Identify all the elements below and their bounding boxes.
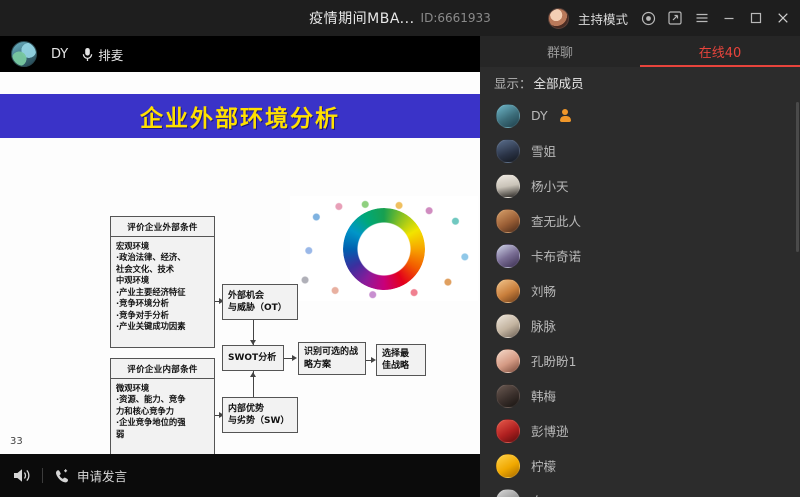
avatar xyxy=(496,349,520,373)
panel-tabs: 群聊 在线40 xyxy=(480,36,800,67)
minimize-icon[interactable] xyxy=(720,9,738,27)
external-conditions-body: 宏观环境 ·政治法律、经济、 社会文化、技术 中观环境 ·产业主要经济特征 ·竞… xyxy=(111,237,214,336)
list-item[interactable]: 柠檬 xyxy=(480,448,800,483)
avatar xyxy=(496,209,520,233)
request-to-speak-button[interactable]: 申请发言 xyxy=(54,466,127,485)
opportunities-threats-box: 外部机会 与威胁（OT） xyxy=(222,284,298,320)
external-line: ·竞争环境分析 xyxy=(116,298,210,309)
member-name: 杨小天 xyxy=(531,176,569,195)
internal-line: 弱 xyxy=(116,429,210,440)
internal-line: 力和核心竞争力 xyxy=(116,406,210,417)
title-bar-controls: 主持模式 xyxy=(548,0,792,36)
member-list[interactable]: DY雪姐杨小天查无此人卡布奇诺刘畅脉脉孔盼盼1韩梅彭博逊柠檬白 xyxy=(480,98,800,497)
arrow-sw-to-swot xyxy=(250,372,256,377)
list-item[interactable]: 查无此人 xyxy=(480,203,800,238)
member-name: 韩梅 xyxy=(531,386,556,405)
side-panel: 群聊 在线40 显示： 全部成员 DY雪姐杨小天查无此人卡布奇诺刘畅脉脉孔盼盼1… xyxy=(480,36,800,497)
internal-conditions-header: 评价企业内部条件 xyxy=(111,359,214,379)
internal-conditions-box: 评价企业内部条件 微观环境 ·资源、能力、竞争 力和核心竞争力 ·企业竞争地位的… xyxy=(110,358,215,454)
avatar xyxy=(496,174,520,198)
close-icon[interactable] xyxy=(774,9,792,27)
external-line: ·竞争对手分析 xyxy=(116,310,210,321)
list-item[interactable]: 卡布奇诺 xyxy=(480,238,800,273)
avatar xyxy=(496,454,520,478)
mic-queue-button[interactable]: 排麦 xyxy=(82,45,123,64)
member-name: 卡布奇诺 xyxy=(531,246,581,265)
meeting-window: 疫情期间MBA... ID:6661933 主持模式 xyxy=(0,0,800,497)
stage-area: DY 排麦 企业外部环境分析 xyxy=(0,36,480,497)
member-name: 白 xyxy=(531,491,544,497)
meeting-id: ID:6661933 xyxy=(421,11,491,25)
internal-line: ·资源、能力、竞争 xyxy=(116,394,210,405)
avatar xyxy=(496,489,520,497)
list-item[interactable]: DY xyxy=(480,98,800,133)
color-wheel-image xyxy=(290,196,478,301)
member-name: 刘畅 xyxy=(531,281,556,300)
external-line: ·产业关键成功因素 xyxy=(116,321,210,332)
member-name: 查无此人 xyxy=(531,211,581,230)
meeting-title: 疫情期间MBA... xyxy=(309,8,414,28)
bottom-toolbar: 申请发言 xyxy=(0,454,492,497)
request-to-speak-label: 申请发言 xyxy=(77,466,127,485)
member-filter-label: 显示： xyxy=(494,73,532,92)
slide-title: 企业外部环境分析 xyxy=(0,94,480,138)
avatar xyxy=(496,314,520,338)
list-item[interactable]: 孔盼盼1 xyxy=(480,343,800,378)
member-name: 彭博逊 xyxy=(531,421,569,440)
internal-line: 微观环境 xyxy=(116,383,210,394)
list-item[interactable]: 脉脉 xyxy=(480,308,800,343)
panel-scrollbar[interactable] xyxy=(796,102,799,252)
identify-options-box: 识别可选的战 略方案 xyxy=(298,342,366,375)
external-line: ·产业主要经济特征 xyxy=(116,287,210,298)
avatar xyxy=(496,384,520,408)
member-name: 雪姐 xyxy=(531,141,556,160)
slide-page-number: 33 xyxy=(10,436,23,447)
host-mode-label[interactable]: 主持模式 xyxy=(578,9,628,28)
menu-icon[interactable] xyxy=(693,9,711,27)
raise-hand-icon xyxy=(54,468,70,484)
list-item[interactable]: 白 xyxy=(480,483,800,497)
speaker-name: DY xyxy=(51,47,68,62)
list-item[interactable]: 刘畅 xyxy=(480,273,800,308)
title-bar: 疫情期间MBA... ID:6661933 主持模式 xyxy=(0,0,800,36)
external-line: 中观环境 xyxy=(116,275,210,286)
avatar xyxy=(496,419,520,443)
swot-analysis-box: SWOT分析 xyxy=(222,345,284,371)
record-icon[interactable] xyxy=(639,9,657,27)
mic-queue-label: 排麦 xyxy=(98,45,123,64)
list-item[interactable]: 彭博逊 xyxy=(480,413,800,448)
member-name: 柠檬 xyxy=(531,456,556,475)
speaker-icon[interactable] xyxy=(12,467,31,484)
list-item[interactable]: 雪姐 xyxy=(480,133,800,168)
list-item[interactable]: 韩梅 xyxy=(480,378,800,413)
internal-line: ·企业竞争地位的强 xyxy=(116,417,210,428)
member-name: 孔盼盼1 xyxy=(531,351,576,370)
external-conditions-box: 评价企业外部条件 宏观环境 ·政治法律、经济、 社会文化、技术 中观环境 ·产业… xyxy=(110,216,215,348)
speaker-avatar xyxy=(11,41,37,67)
member-name: DY xyxy=(531,108,548,123)
list-item[interactable]: 杨小天 xyxy=(480,168,800,203)
external-conditions-header: 评价企业外部条件 xyxy=(111,217,214,237)
host-badge-icon xyxy=(559,109,572,122)
toolbar-divider xyxy=(42,468,43,483)
choose-best-strategy-box: 选择最 佳战略 xyxy=(376,344,426,376)
external-line: ·政治法律、经济、 xyxy=(116,252,210,263)
external-line: 宏观环境 xyxy=(116,241,210,252)
host-avatar xyxy=(548,8,569,29)
maximize-icon[interactable] xyxy=(747,9,765,27)
stage-top-bar: DY 排麦 xyxy=(0,36,491,72)
popout-icon[interactable] xyxy=(666,9,684,27)
member-filter-value[interactable]: 全部成员 xyxy=(534,73,584,92)
tab-online-members[interactable]: 在线40 xyxy=(640,36,800,67)
arrow-swot-to-identify xyxy=(292,355,297,361)
tab-group-chat[interactable]: 群聊 xyxy=(480,36,640,67)
microphone-icon xyxy=(82,47,93,62)
avatar xyxy=(496,244,520,268)
internal-conditions-body: 微观环境 ·资源、能力、竞争 力和核心竞争力 ·企业竞争地位的强 弱 xyxy=(111,379,214,443)
avatar xyxy=(496,139,520,163)
external-line: 社会文化、技术 xyxy=(116,264,210,275)
color-wheel-graphic xyxy=(343,208,425,290)
member-name: 脉脉 xyxy=(531,316,556,335)
avatar xyxy=(496,279,520,303)
shared-slide[interactable]: 企业外部环境分析 评价企业外部条件 宏观环境 ·政 xyxy=(0,72,480,454)
member-filter-row[interactable]: 显示： 全部成员 xyxy=(480,67,800,98)
avatar xyxy=(496,104,520,128)
strengths-weaknesses-box: 内部优势 与劣势（SW） xyxy=(222,397,298,433)
